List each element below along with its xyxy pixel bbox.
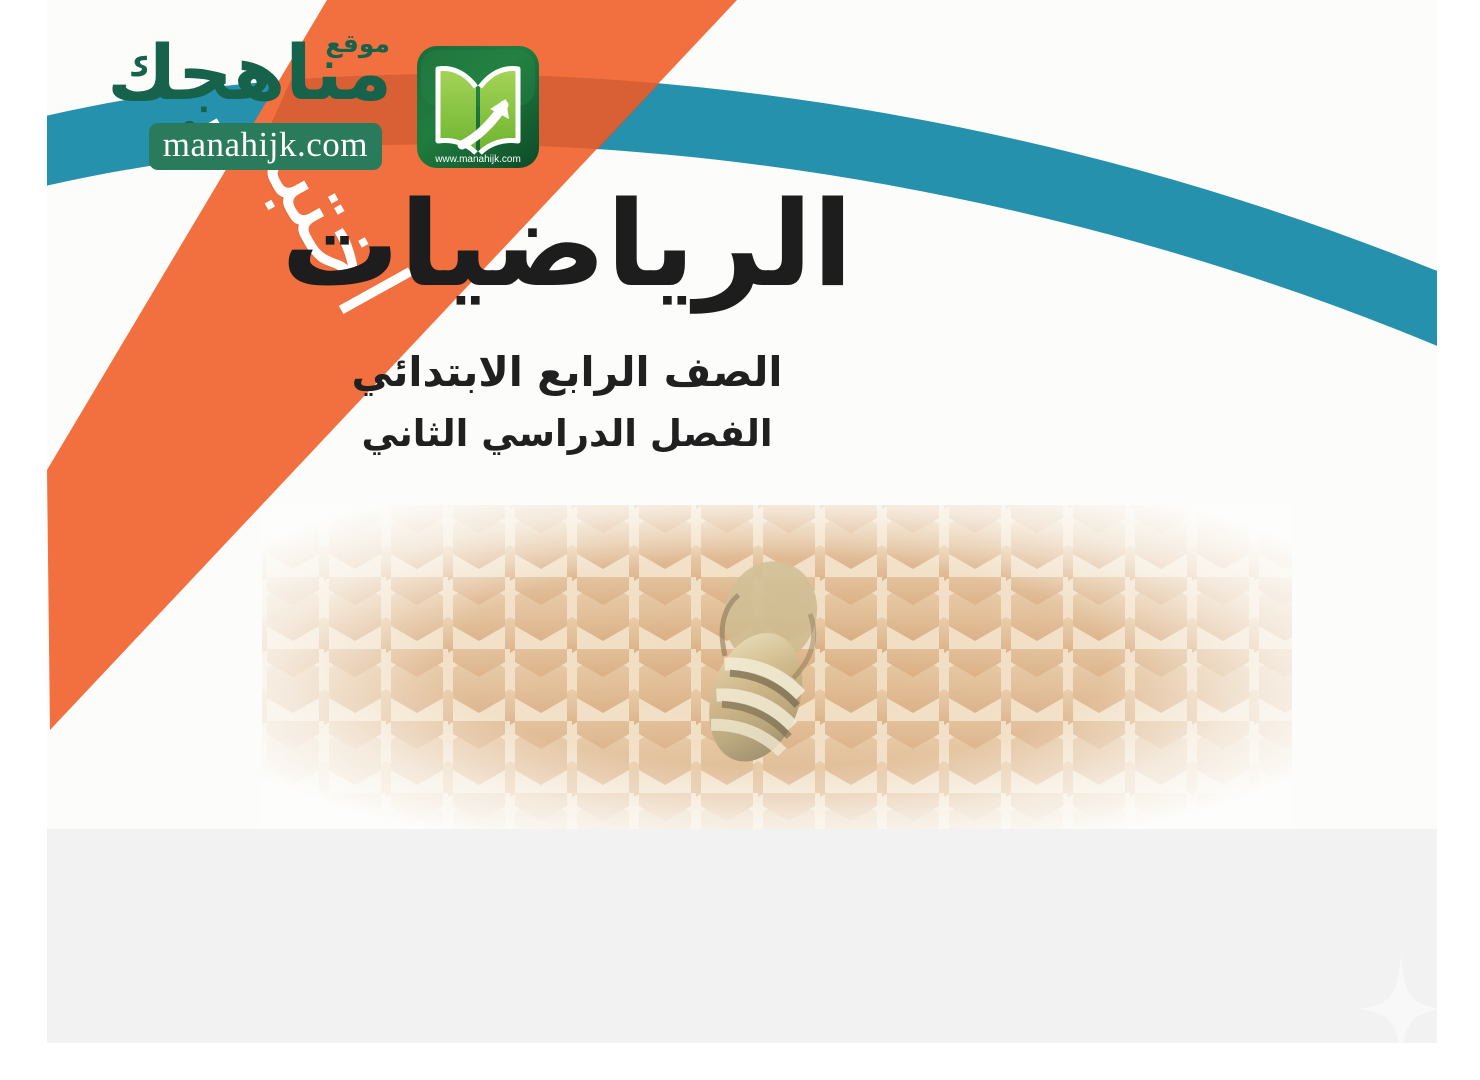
sparkle-star-icon [1357, 955, 1437, 1043]
cover-title-block: الرياضيات الصف الرابع الابتدائي الفصل ال… [47, 175, 1087, 455]
screenshot-canvas: اختبار الرياضيات الصف الرابع الابتدائي ا… [0, 0, 1480, 1080]
site-logo[interactable]: موقع مناهجك manahijk.com [72, 35, 542, 185]
honeycomb-with-bee-photo [262, 505, 1292, 829]
subtitle-term: الفصل الدراسي الثاني [47, 412, 1087, 455]
logo-url-pill[interactable]: manahijk.com [149, 123, 382, 170]
book-page-card: اختبار الرياضيات الصف الرابع الابتدائي ا… [47, 0, 1437, 1043]
watermark-strip [47, 829, 1437, 1043]
page-title: الرياضيات [47, 175, 1087, 314]
logo-icon-caption: www.manahijk.com [434, 154, 521, 165]
logo-brand-word: مناهجك [107, 35, 392, 111]
subtitle-grade: الصف الرابع الابتدائي [47, 348, 1087, 396]
open-book-arrow-logo-icon[interactable]: www.manahijk.com [414, 43, 542, 171]
